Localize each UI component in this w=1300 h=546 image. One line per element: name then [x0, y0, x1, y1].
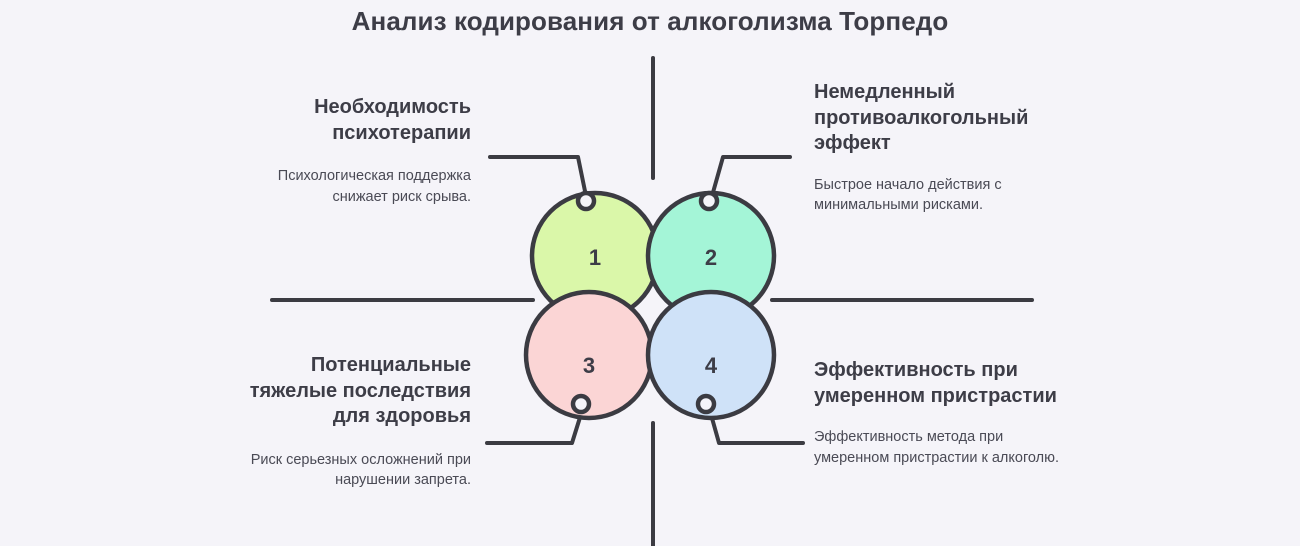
- node-text-block-3: Потенциальные тяжелые последствия для зд…: [243, 353, 471, 491]
- infographic-canvas: Анализ кодирования от алкоголизма Торпед…: [0, 0, 1300, 546]
- node-text-block-2: Немедленный противоалкогольный эффект Бы…: [814, 80, 1066, 216]
- node-body-1: Психологическая поддержка снижает риск с…: [243, 166, 471, 207]
- node-body-3: Риск серьезных осложнений при нарушении …: [243, 450, 471, 491]
- leader-line-1: [490, 157, 586, 196]
- circle-number-1: 1: [589, 245, 601, 270]
- node-text-block-1: Необходимость психотерапии Психологическ…: [243, 95, 471, 207]
- marker-ring-1: [578, 193, 594, 209]
- node-heading-2: Немедленный противоалкогольный эффект: [814, 80, 1066, 157]
- marker-ring-4: [698, 396, 714, 412]
- circle-number-4: 4: [705, 353, 718, 378]
- leader-line-2: [712, 157, 790, 196]
- node-heading-3: Потенциальные тяжелые последствия для зд…: [243, 353, 471, 430]
- node-body-2: Быстрое начало действия с минимальными р…: [814, 175, 1066, 216]
- marker-ring-2: [701, 193, 717, 209]
- marker-ring-3: [573, 396, 589, 412]
- quadrant-venn-diagram: 1 2 3 4: [0, 0, 1300, 546]
- node-heading-1: Необходимость психотерапии: [243, 95, 471, 146]
- node-body-4: Эффективность метода при умеренном прист…: [814, 427, 1066, 468]
- circle-number-2: 2: [705, 245, 717, 270]
- node-text-block-4: Эффективность при умеренном пристрастии …: [814, 358, 1066, 468]
- circle-number-3: 3: [583, 353, 595, 378]
- node-heading-4: Эффективность при умеренном пристрастии: [814, 358, 1066, 409]
